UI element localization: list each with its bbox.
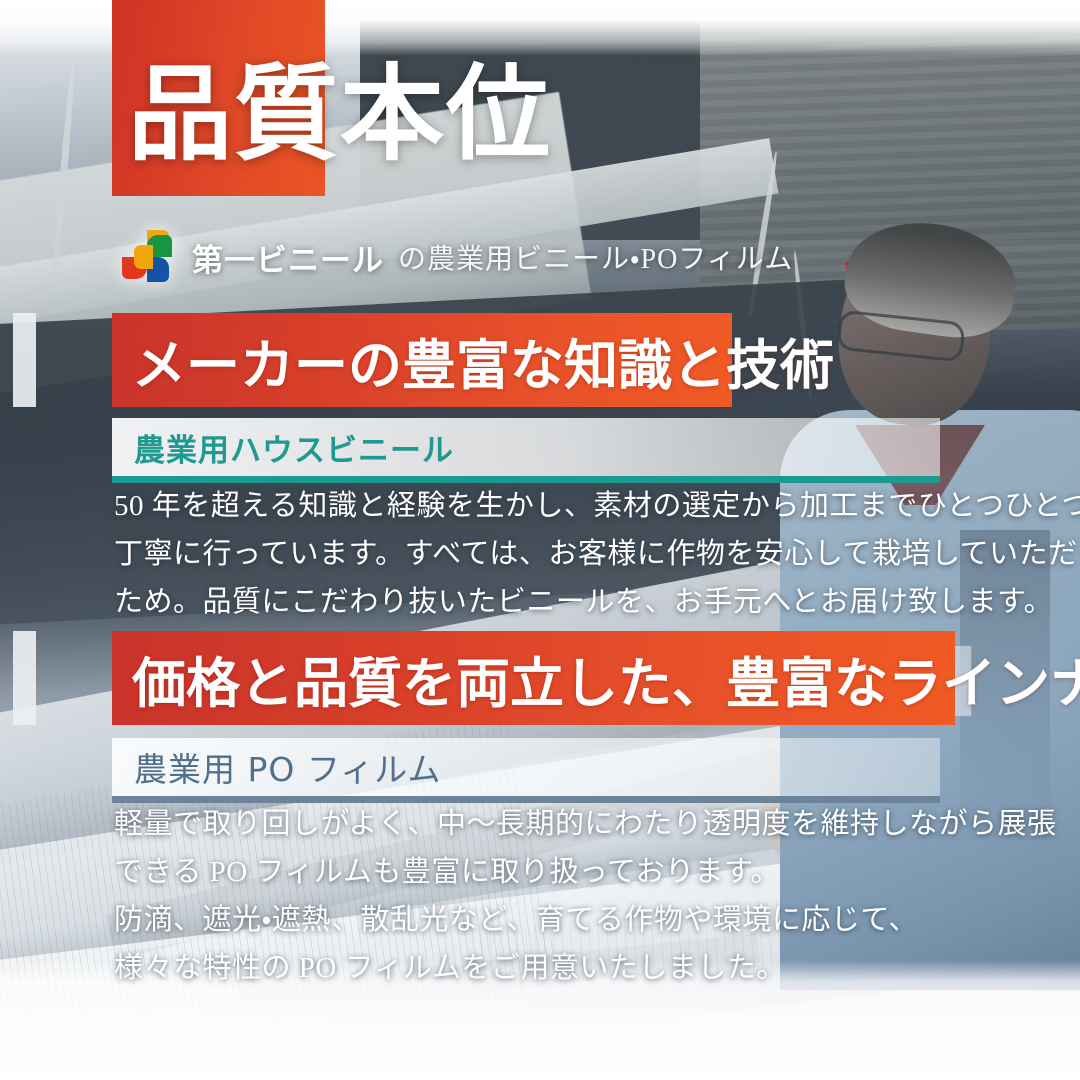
section-banner-1: メーカーの豊富な知識と技術 xyxy=(112,313,732,407)
body-line: 様々な特性の PO フィルムをご用意いたしました。 xyxy=(114,944,964,992)
subheading-panel-1: 農業用ハウスビニール xyxy=(112,418,940,476)
body-line: できる PO フィルムも豊富に取り扱っております。 xyxy=(114,848,964,896)
body-line: 防滴、遮光・遮熱、散乱光など、育てる作物や環境に応じて、 xyxy=(114,896,964,944)
promo-banner-canvas: 品質本位 第一ビニール の農業用ビニール・POフィルム メーカーの豊富な知識と技… xyxy=(0,0,1080,1080)
body-line: ため。品質にこだわり抜いたビニールを、お手元へとお届け致します。 xyxy=(114,578,964,626)
section-body-2: 軽量で取り回しがよく、中〜長期的にわたり透明度を維持しながら展張 できる PO … xyxy=(114,800,964,992)
body-line: 軽量で取り回しがよく、中〜長期的にわたり透明度を維持しながら展張 xyxy=(114,800,964,848)
subheading-2-label: 農業用 PO フィルム xyxy=(112,743,442,791)
banner-accent-bar-1 xyxy=(13,313,36,407)
section-banner-2: 価格と品質を両立した、豊富なラインナップ xyxy=(112,631,955,725)
section-banner-1-label: メーカーの豊富な知識と技術 xyxy=(112,321,834,400)
body-line: 50 年を超える知識と経験を生かし、素材の選定から加工までひとつひとつ xyxy=(114,482,964,530)
page-title: 品質本位 xyxy=(128,62,888,166)
brand-tagline: の農業用ビニール・POフィルム xyxy=(398,237,793,277)
section-body-1: 50 年を超える知識と経験を生かし、素材の選定から加工までひとつひとつ 丁寧に行… xyxy=(114,482,964,626)
four-petal-pinwheel-logo xyxy=(116,226,178,288)
subheading-panel-2: 農業用 PO フィルム xyxy=(112,738,940,796)
brand-line: 第一ビニール の農業用ビニール・POフィルム xyxy=(116,222,793,292)
subheading-1-label: 農業用ハウスビニール xyxy=(112,425,454,470)
banner-accent-bar-2 xyxy=(13,631,36,725)
section-banner-2-label: 価格と品質を両立した、豊富なラインナップ xyxy=(112,639,1080,718)
body-line: 丁寧に行っています。すべては、お客様に作物を安心して栽培していただく xyxy=(114,530,964,578)
brand-name: 第一ビニール xyxy=(192,235,384,280)
